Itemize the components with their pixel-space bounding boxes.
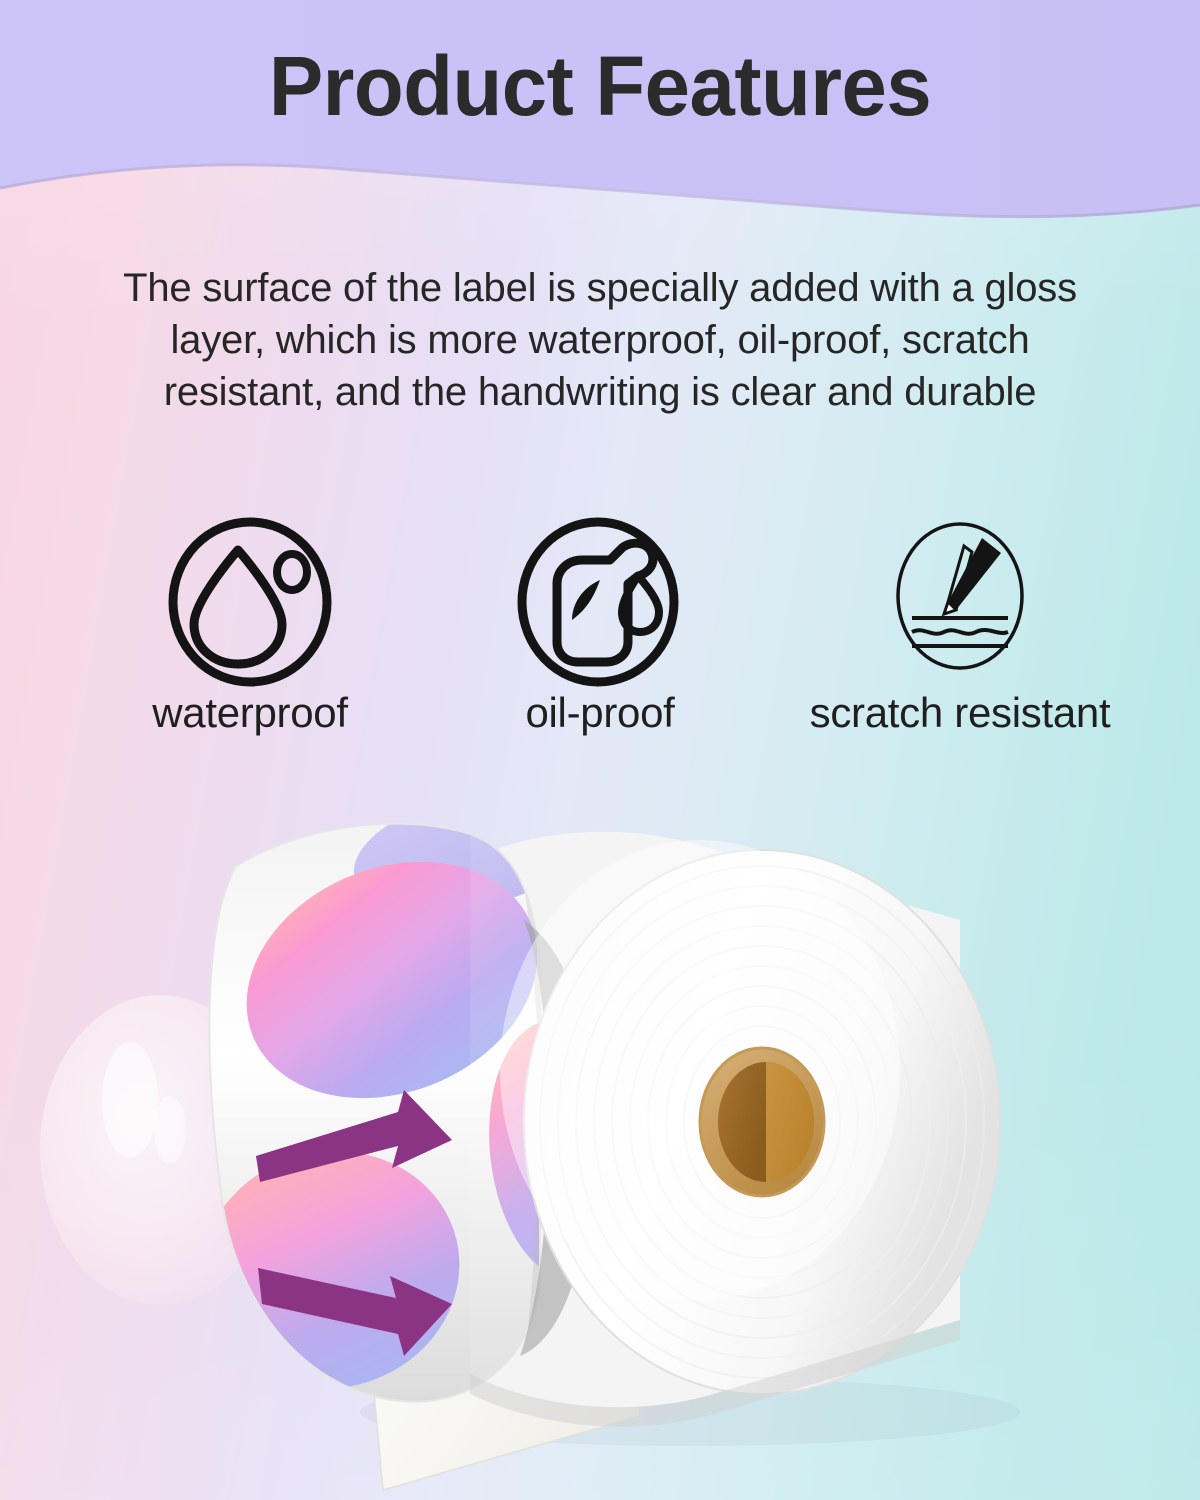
product-features-infographic: Product Features The surface of the labe…	[0, 0, 1200, 1500]
page-title: Product Features	[18, 44, 1182, 128]
cardboard-core	[700, 1048, 824, 1196]
feature-icon-row: waterproof oil-proof scratch	[0, 512, 1200, 772]
knife-scratch-icon	[870, 512, 1050, 692]
feature-label-scratch-resistant: scratch resistant	[810, 689, 1111, 736]
feature-waterproof: waterproof	[100, 512, 400, 734]
water-drop-icon	[160, 512, 340, 692]
feature-description: The surface of the label is specially ad…	[90, 262, 1110, 418]
feature-label-waterproof: waterproof	[152, 689, 347, 736]
feature-oil-proof: oil-proof	[455, 512, 745, 734]
feature-label-oil-proof: oil-proof	[525, 689, 674, 736]
header-band: Product Features	[0, 0, 1200, 240]
oil-bottle-icon	[510, 512, 690, 692]
feature-scratch-resistant: scratch resistant	[740, 512, 1180, 734]
label-roll-illustration	[0, 800, 1200, 1500]
product-photo	[0, 800, 1200, 1500]
label-roll	[175, 800, 1000, 1440]
